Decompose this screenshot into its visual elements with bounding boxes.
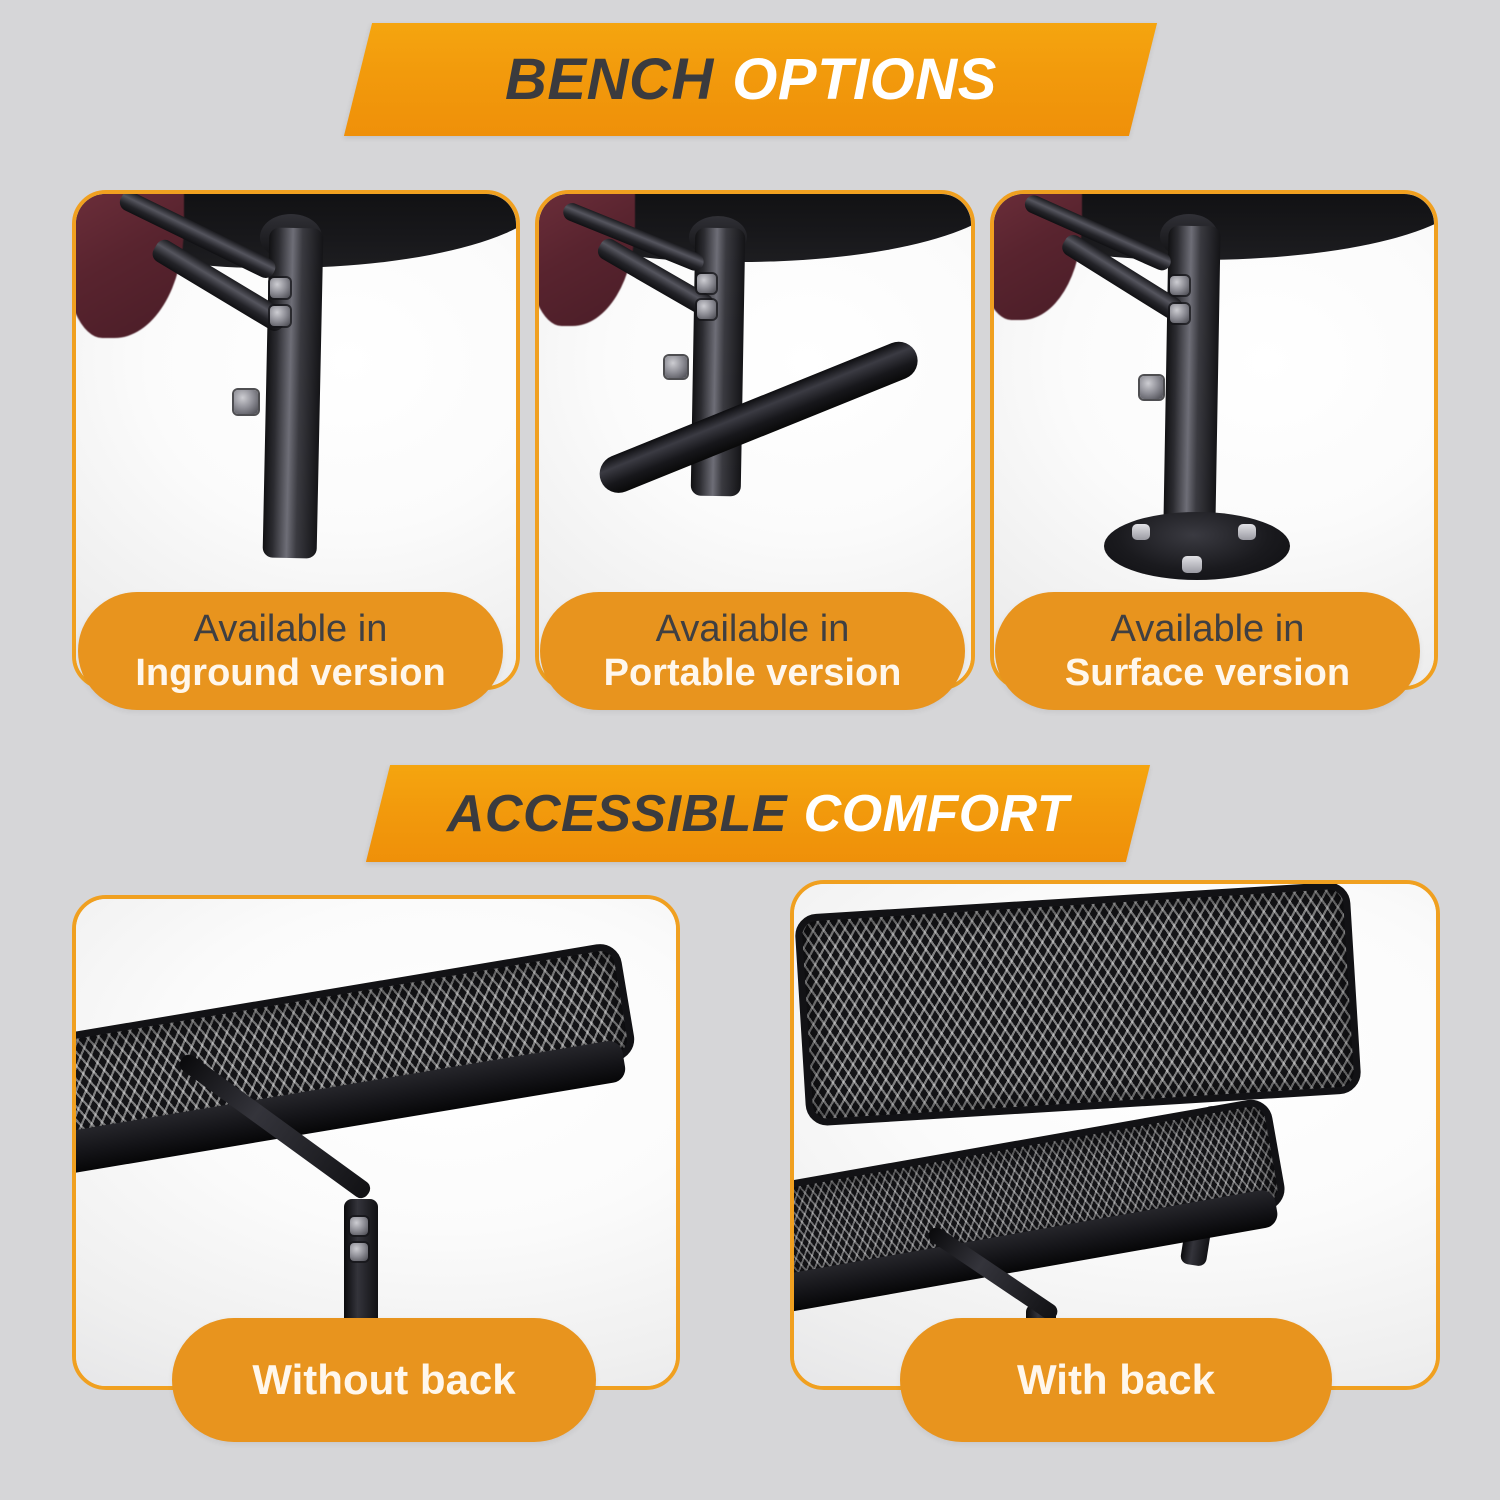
banner-word-light: COMFORT xyxy=(804,784,1069,844)
label-without-back: Without back xyxy=(172,1318,596,1442)
bolt-upper xyxy=(697,274,716,293)
banner-bench-options: BENCH OPTIONS xyxy=(344,23,1157,136)
label-line-1: Available in xyxy=(194,607,388,651)
photo-bench-with-back xyxy=(794,884,1436,1386)
anchor-bolt-front xyxy=(1182,556,1202,573)
bolt-brace xyxy=(665,356,687,378)
bolt-brace xyxy=(1140,376,1163,399)
label-inground-version: Available in Inground version xyxy=(78,592,503,710)
label-line-1: Available in xyxy=(1111,607,1305,651)
label-surface-version: Available in Surface version xyxy=(995,592,1420,710)
leg-post xyxy=(263,227,324,558)
bolt-lower xyxy=(350,1243,368,1261)
label-line-2: Inground version xyxy=(135,651,445,695)
bolt-middle xyxy=(697,300,716,319)
bolt-middle xyxy=(270,306,290,326)
label-line-2: Portable version xyxy=(604,651,902,695)
banner-word-dark: ACCESSIBLE xyxy=(447,784,787,844)
label-text: Without back xyxy=(252,1356,515,1405)
bolt-upper xyxy=(350,1217,368,1235)
bolt-brace xyxy=(234,390,258,414)
card-bench-without-back[interactable] xyxy=(72,895,680,1390)
bench-backrest-mesh xyxy=(794,884,1362,1127)
bolt-upper xyxy=(1170,276,1189,295)
bolt-middle xyxy=(1170,304,1189,323)
label-line-1: Available in xyxy=(656,607,850,651)
anchor-bolt-left xyxy=(1132,524,1150,540)
banner-accessible-comfort: ACCESSIBLE COMFORT xyxy=(366,765,1150,862)
bolt-upper xyxy=(270,278,290,298)
label-with-back: With back xyxy=(900,1318,1332,1442)
label-line-2: Surface version xyxy=(1065,651,1350,695)
leg-post xyxy=(1163,226,1220,529)
banner-word-dark: BENCH xyxy=(505,46,714,113)
anchor-bolt-right xyxy=(1238,524,1256,540)
banner-bench-options-text: BENCH OPTIONS xyxy=(505,46,997,113)
banner-word-light: OPTIONS xyxy=(732,46,997,113)
banner-accessible-comfort-text: ACCESSIBLE COMFORT xyxy=(447,784,1069,844)
label-portable-version: Available in Portable version xyxy=(540,592,965,710)
photo-bench-without-back xyxy=(76,899,676,1386)
label-text: With back xyxy=(1017,1356,1215,1405)
card-bench-with-back[interactable] xyxy=(790,880,1440,1390)
